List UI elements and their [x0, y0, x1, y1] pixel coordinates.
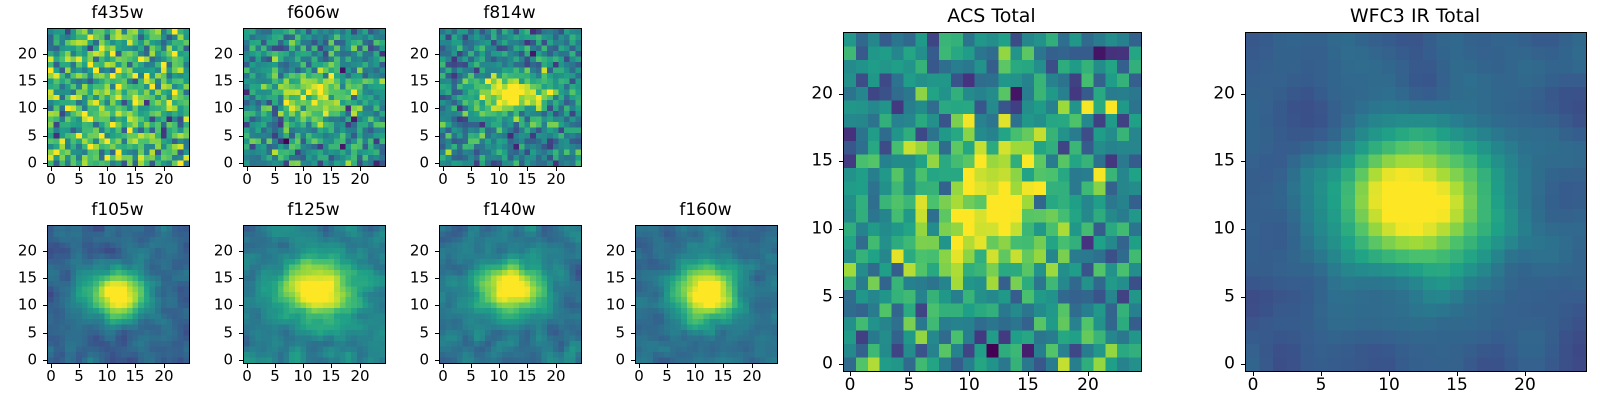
xticklabel-f160w-4: 20	[742, 369, 761, 384]
xticklabel-f105w-0: 0	[46, 369, 56, 384]
xticklabel-acs-total-0: 0	[845, 377, 856, 394]
xticklabel-f140w-3: 15	[517, 369, 536, 384]
panel-title-f105w: f105w	[47, 202, 188, 219]
axes-f140w[interactable]	[439, 225, 582, 364]
xticklabel-wfc3-ir-total-0: 0	[1248, 377, 1259, 394]
yticklabel-f814w-3: 15	[389, 74, 429, 89]
xticklabel-f814w-0: 0	[438, 172, 448, 187]
yticklabel-wfc3-ir-total-4: 20	[1195, 86, 1235, 103]
ytick-f160w-2	[631, 305, 635, 306]
xticklabel-f125w-0: 0	[242, 369, 252, 384]
yticklabel-acs-total-3: 15	[793, 153, 833, 170]
yticklabel-f105w-1: 5	[0, 326, 37, 341]
ytick-f160w-4	[631, 251, 635, 252]
xticklabel-f125w-1: 5	[270, 369, 280, 384]
axes-acs-total[interactable]	[843, 32, 1142, 372]
ytick-acs-total-3	[839, 161, 843, 162]
panel-title-wfc3-ir-total: WFC3 IR Total	[1245, 7, 1585, 26]
ytick-wfc3-ir-total-1	[1241, 297, 1245, 298]
yticklabel-f105w-2: 10	[0, 298, 37, 313]
xticklabel-f606w-1: 5	[270, 172, 280, 187]
ytick-f435w-1	[43, 136, 47, 137]
xticklabel-acs-total-1: 5	[904, 377, 915, 394]
ytick-f160w-1	[631, 333, 635, 334]
ytick-f814w-0	[435, 163, 439, 164]
yticklabel-f435w-4: 20	[0, 47, 37, 62]
yticklabel-wfc3-ir-total-1: 5	[1195, 289, 1235, 306]
ytick-f105w-0	[43, 360, 47, 361]
ytick-f140w-2	[435, 305, 439, 306]
xticklabel-f105w-3: 15	[125, 369, 144, 384]
xticklabel-f435w-1: 5	[74, 172, 84, 187]
yticklabel-f814w-0: 0	[389, 156, 429, 171]
ytick-f814w-3	[435, 81, 439, 82]
yticklabel-f435w-3: 15	[0, 74, 37, 89]
yticklabel-f160w-3: 15	[585, 271, 625, 286]
ytick-f105w-3	[43, 278, 47, 279]
ytick-wfc3-ir-total-4	[1241, 94, 1245, 95]
yticklabel-f814w-4: 20	[389, 47, 429, 62]
yticklabel-f140w-4: 20	[389, 244, 429, 259]
xticklabel-f435w-0: 0	[46, 172, 56, 187]
yticklabel-wfc3-ir-total-2: 10	[1195, 221, 1235, 238]
xticklabel-acs-total-3: 15	[1017, 377, 1039, 394]
xticklabel-f435w-2: 10	[97, 172, 116, 187]
yticklabel-f435w-1: 5	[0, 129, 37, 144]
ytick-acs-total-0	[839, 364, 843, 365]
xticklabel-f125w-3: 15	[321, 369, 340, 384]
axes-f606w[interactable]	[243, 28, 386, 167]
xticklabel-acs-total-4: 20	[1077, 377, 1099, 394]
yticklabel-f125w-3: 15	[193, 271, 233, 286]
ytick-acs-total-4	[839, 94, 843, 95]
ytick-f140w-4	[435, 251, 439, 252]
xticklabel-f140w-1: 5	[466, 369, 476, 384]
heatmap-image-f140w	[440, 226, 581, 363]
xticklabel-f105w-4: 20	[154, 369, 173, 384]
xticklabel-f105w-2: 10	[97, 369, 116, 384]
heatmap-image-f435w	[48, 29, 189, 166]
ytick-f140w-3	[435, 278, 439, 279]
yticklabel-f105w-0: 0	[0, 353, 37, 368]
ytick-f435w-3	[43, 81, 47, 82]
xticklabel-f606w-3: 15	[321, 172, 340, 187]
ytick-f105w-2	[43, 305, 47, 306]
panel-title-f814w: f814w	[439, 5, 580, 22]
ytick-f125w-3	[239, 278, 243, 279]
yticklabel-f606w-4: 20	[193, 47, 233, 62]
xticklabel-f160w-1: 5	[662, 369, 672, 384]
ytick-f606w-2	[239, 108, 243, 109]
xticklabel-f105w-1: 5	[74, 369, 84, 384]
figure-canvas: f435w0510152005101520f606w05101520051015…	[0, 0, 1600, 400]
ytick-f105w-4	[43, 251, 47, 252]
yticklabel-f160w-4: 20	[585, 244, 625, 259]
axes-f814w[interactable]	[439, 28, 582, 167]
heatmap-image-f160w	[636, 226, 777, 363]
axes-f125w[interactable]	[243, 225, 386, 364]
yticklabel-f814w-2: 10	[389, 101, 429, 116]
ytick-wfc3-ir-total-3	[1241, 161, 1245, 162]
yticklabel-f140w-2: 10	[389, 298, 429, 313]
xticklabel-f814w-4: 20	[546, 172, 565, 187]
yticklabel-f606w-0: 0	[193, 156, 233, 171]
ytick-f435w-2	[43, 108, 47, 109]
xticklabel-f125w-4: 20	[350, 369, 369, 384]
yticklabel-f160w-0: 0	[585, 353, 625, 368]
ytick-f125w-1	[239, 333, 243, 334]
yticklabel-f606w-2: 10	[193, 101, 233, 116]
ytick-f606w-1	[239, 136, 243, 137]
ytick-f814w-4	[435, 54, 439, 55]
xticklabel-wfc3-ir-total-2: 10	[1378, 377, 1400, 394]
xticklabel-f140w-4: 20	[546, 369, 565, 384]
yticklabel-f140w-0: 0	[389, 353, 429, 368]
xticklabel-f814w-2: 10	[489, 172, 508, 187]
yticklabel-f125w-2: 10	[193, 298, 233, 313]
xticklabel-f160w-0: 0	[634, 369, 644, 384]
xticklabel-f606w-4: 20	[350, 172, 369, 187]
ytick-f125w-2	[239, 305, 243, 306]
yticklabel-acs-total-2: 10	[793, 221, 833, 238]
yticklabel-f814w-1: 5	[389, 129, 429, 144]
ytick-f160w-3	[631, 278, 635, 279]
xticklabel-wfc3-ir-total-4: 20	[1514, 377, 1536, 394]
yticklabel-f105w-4: 20	[0, 244, 37, 259]
panel-title-f140w: f140w	[439, 202, 580, 219]
heatmap-image-f105w	[48, 226, 189, 363]
xticklabel-wfc3-ir-total-3: 15	[1446, 377, 1468, 394]
ytick-wfc3-ir-total-2	[1241, 229, 1245, 230]
xticklabel-f125w-2: 10	[293, 369, 312, 384]
heatmap-image-wfc3-ir-total	[1246, 33, 1586, 371]
ytick-f606w-0	[239, 163, 243, 164]
yticklabel-wfc3-ir-total-0: 0	[1195, 356, 1235, 373]
ytick-acs-total-2	[839, 229, 843, 230]
yticklabel-wfc3-ir-total-3: 15	[1195, 153, 1235, 170]
ytick-f814w-2	[435, 108, 439, 109]
xticklabel-f814w-1: 5	[466, 172, 476, 187]
yticklabel-acs-total-1: 5	[793, 289, 833, 306]
ytick-f125w-0	[239, 360, 243, 361]
yticklabel-f125w-4: 20	[193, 244, 233, 259]
xticklabel-f435w-4: 20	[154, 172, 173, 187]
xticklabel-f160w-3: 15	[713, 369, 732, 384]
ytick-f140w-1	[435, 333, 439, 334]
ytick-f435w-4	[43, 54, 47, 55]
xticklabel-acs-total-2: 10	[958, 377, 980, 394]
yticklabel-f606w-3: 15	[193, 74, 233, 89]
ytick-f105w-1	[43, 333, 47, 334]
yticklabel-f125w-0: 0	[193, 353, 233, 368]
panel-title-f160w: f160w	[635, 202, 776, 219]
panel-title-f125w: f125w	[243, 202, 384, 219]
xticklabel-f140w-2: 10	[489, 369, 508, 384]
xticklabel-f435w-3: 15	[125, 172, 144, 187]
yticklabel-f160w-1: 5	[585, 326, 625, 341]
yticklabel-f140w-1: 5	[389, 326, 429, 341]
axes-f105w[interactable]	[47, 225, 190, 364]
ytick-f435w-0	[43, 163, 47, 164]
ytick-f814w-1	[435, 136, 439, 137]
yticklabel-f105w-3: 15	[0, 271, 37, 286]
axes-wfc3-ir-total[interactable]	[1245, 32, 1587, 372]
panel-title-f435w: f435w	[47, 5, 188, 22]
xticklabel-f140w-0: 0	[438, 369, 448, 384]
panel-title-acs-total: ACS Total	[843, 7, 1140, 26]
panel-title-f606w: f606w	[243, 5, 384, 22]
yticklabel-f606w-1: 5	[193, 129, 233, 144]
xticklabel-wfc3-ir-total-1: 5	[1316, 377, 1327, 394]
ytick-f140w-0	[435, 360, 439, 361]
heatmap-image-acs-total	[844, 33, 1141, 371]
ytick-f125w-4	[239, 251, 243, 252]
yticklabel-f435w-2: 10	[0, 101, 37, 116]
ytick-f160w-0	[631, 360, 635, 361]
yticklabel-acs-total-4: 20	[793, 86, 833, 103]
yticklabel-f435w-0: 0	[0, 156, 37, 171]
yticklabel-f125w-1: 5	[193, 326, 233, 341]
ytick-acs-total-1	[839, 297, 843, 298]
ytick-f606w-4	[239, 54, 243, 55]
yticklabel-acs-total-0: 0	[793, 356, 833, 373]
yticklabel-f140w-3: 15	[389, 271, 429, 286]
xticklabel-f814w-3: 15	[517, 172, 536, 187]
xticklabel-f606w-2: 10	[293, 172, 312, 187]
ytick-f606w-3	[239, 81, 243, 82]
ytick-wfc3-ir-total-0	[1241, 364, 1245, 365]
heatmap-image-f125w	[244, 226, 385, 363]
yticklabel-f160w-2: 10	[585, 298, 625, 313]
heatmap-image-f606w	[244, 29, 385, 166]
xticklabel-f160w-2: 10	[685, 369, 704, 384]
xticklabel-f606w-0: 0	[242, 172, 252, 187]
heatmap-image-f814w	[440, 29, 581, 166]
axes-f435w[interactable]	[47, 28, 190, 167]
axes-f160w[interactable]	[635, 225, 778, 364]
